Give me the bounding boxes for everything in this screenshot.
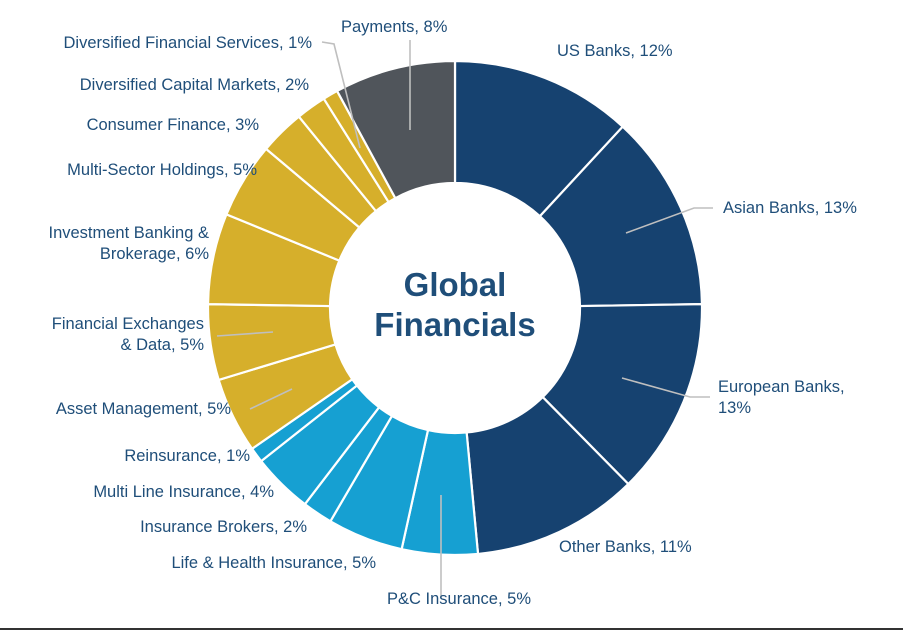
slice-label-investment-banking: Investment Banking &Brokerage, 6% [48,224,209,263]
slice-label-consumer-finance: Consumer Finance, 3% [87,116,260,134]
slice-label-reinsurance: Reinsurance, 1% [124,447,250,465]
slice-label-multi-sector: Multi-Sector Holdings, 5% [67,161,257,179]
donut-chart: US Banks, 12%Asian Banks, 13%European Ba… [0,0,903,636]
slice-label-pc-insurance: P&C Insurance, 5% [387,590,531,608]
slice-label-us-banks: US Banks, 12% [557,42,673,60]
slice-label-other-banks: Other Banks, 11% [559,538,692,556]
slice-label-asian-banks: Asian Banks, 13% [723,199,857,217]
center-title-group: GlobalFinancials [374,266,535,343]
chart-canvas: US Banks, 12%Asian Banks, 13%European Ba… [0,0,903,636]
slice-label-life-health: Life & Health Insurance, 5% [171,554,376,572]
slice-label-insurance-brokers: Insurance Brokers, 2% [140,518,307,536]
slice-label-payments: Payments, 8% [341,18,448,36]
bottom-divider [0,628,903,630]
slice-label-european-banks: European Banks,13% [718,378,845,417]
center-title: GlobalFinancials [374,266,535,343]
slice-label-diversified-financial: Diversified Financial Services, 1% [63,34,312,52]
slice-label-asset-management: Asset Management, 5% [56,400,232,418]
slice-label-multi-line: Multi Line Insurance, 4% [93,483,274,501]
slice-label-financial-exchanges: Financial Exchanges& Data, 5% [52,315,205,354]
slice-label-diversified-capital: Diversified Capital Markets, 2% [80,76,310,94]
